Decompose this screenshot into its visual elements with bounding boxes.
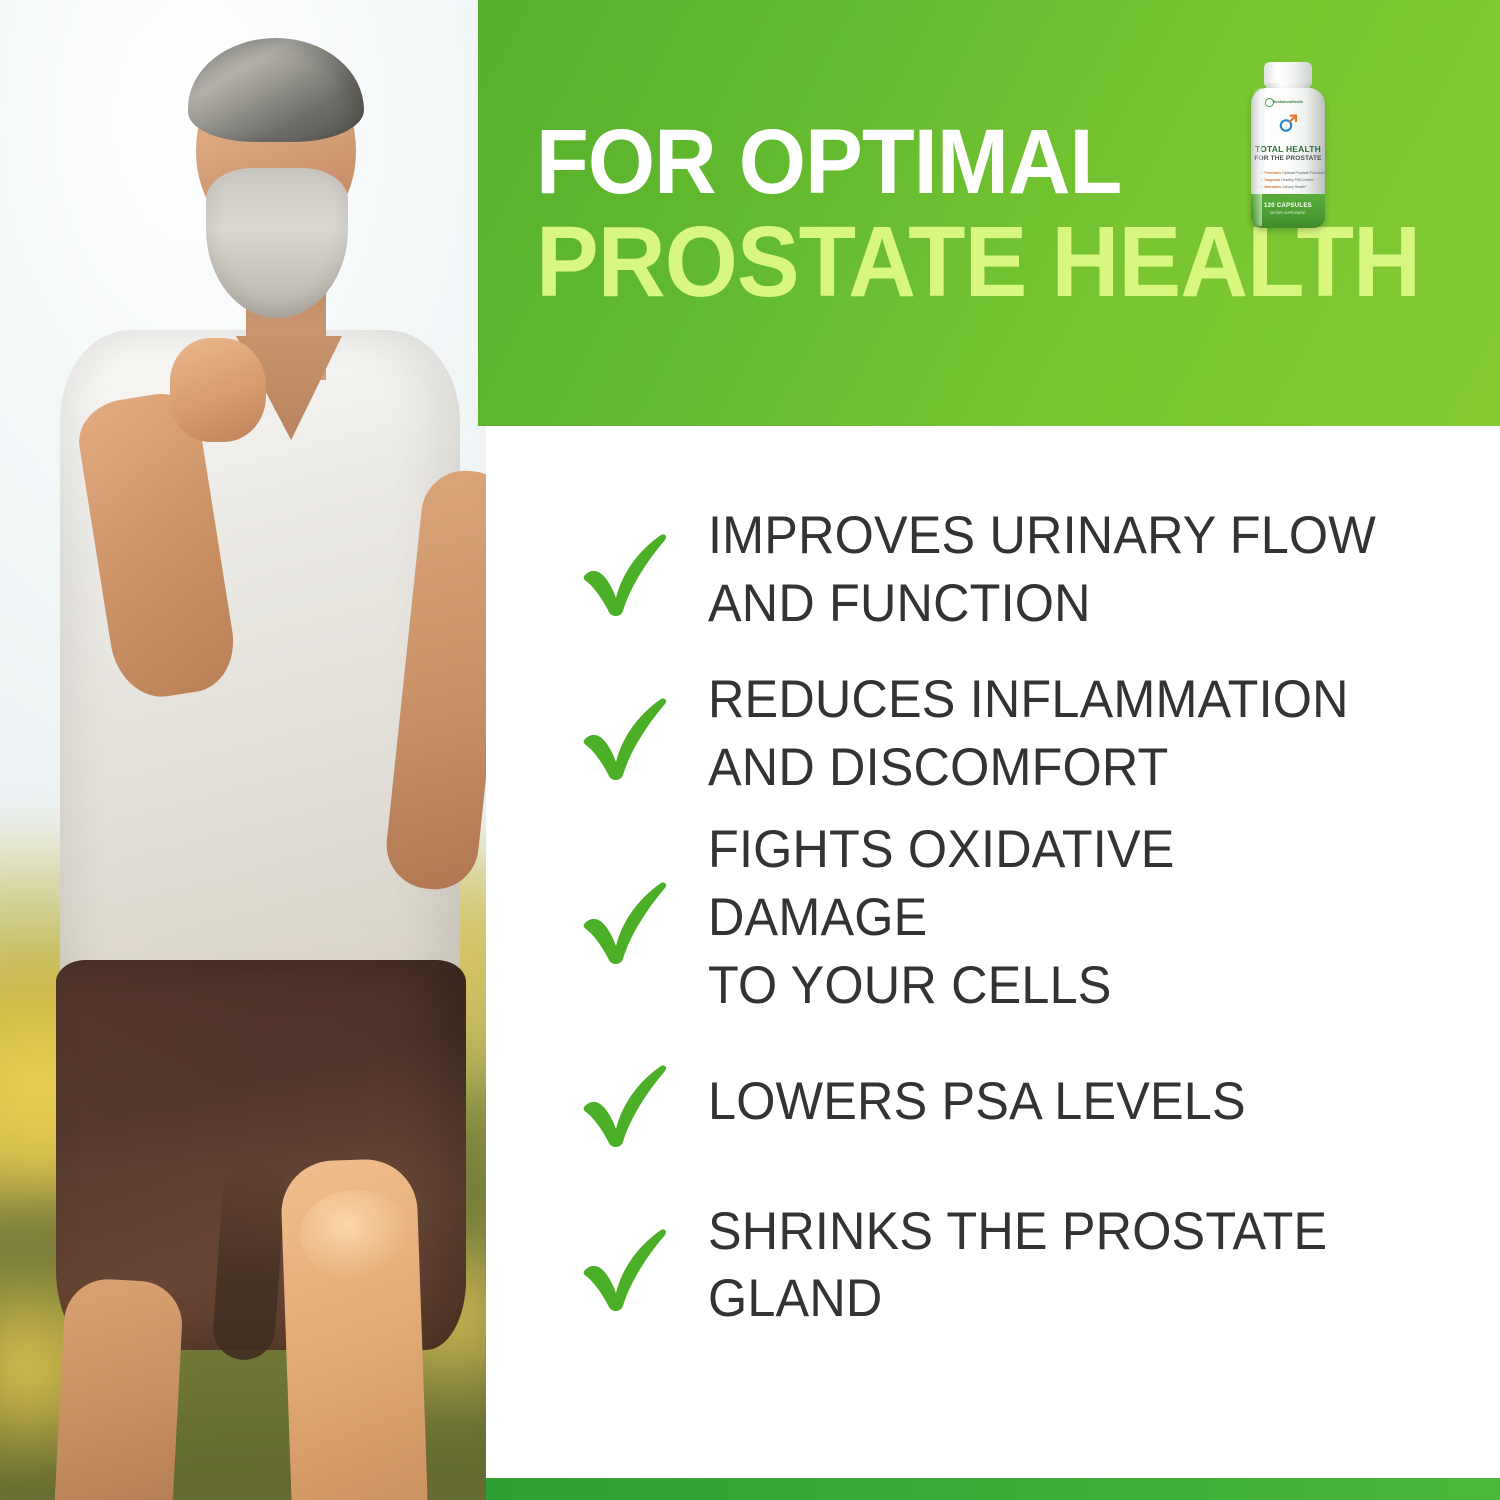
check-mark-icon: ✓	[1260, 185, 1263, 189]
bottle-subtitle: FOR THE PROSTATE	[1251, 155, 1325, 162]
bottle-supplement-label: DIETARY SUPPLEMENT	[1251, 211, 1325, 215]
bottle-claim: ✓Promotes Optimal Prostate Function*	[1260, 170, 1318, 177]
benefits-list: IMPROVES URINARY FLOW AND FUNCTION REDUC…	[578, 488, 1438, 1347]
benefit-item: FIGHTS OXIDATIVE DAMAGE TO YOUR CELLS	[578, 816, 1438, 1019]
bottle-brand-name: BenNaturalHealth	[1251, 100, 1325, 104]
benefit-item: LOWERS PSA LEVELS	[578, 1019, 1438, 1183]
check-mark-icon	[578, 1217, 674, 1313]
bottle-claims-list: ✓Promotes Optimal Prostate Function* ✓Su…	[1260, 170, 1318, 190]
bottom-accent-bar	[486, 1478, 1500, 1500]
benefit-item: REDUCES INFLAMMATION AND DISCOMFORT	[578, 652, 1438, 816]
male-gender-symbol-icon	[1277, 112, 1299, 139]
bottle-label: BenNaturalHealth TOTAL HEALTH FOR THE PR…	[1251, 88, 1325, 228]
bottle-claim-lead: Promotes	[1265, 171, 1282, 175]
check-mark-icon: ✓	[1260, 178, 1263, 182]
runner-left-leg	[54, 1277, 184, 1500]
runner-knee-highlight	[300, 1190, 410, 1280]
bottle-title: TOTAL HEALTH	[1251, 144, 1325, 154]
benefit-label: LOWERS PSA LEVELS	[708, 1068, 1246, 1136]
benefit-label: FIGHTS OXIDATIVE DAMAGE TO YOUR CELLS	[708, 816, 1402, 1019]
benefit-label: REDUCES INFLAMMATION AND DISCOMFORT	[708, 666, 1349, 802]
check-mark-icon: ✓	[1260, 171, 1263, 175]
bottle-claim-rest: Healthy PSA Levels*	[1281, 178, 1314, 182]
runner-beard	[206, 168, 348, 318]
bottle-claim: ✓Maintains Urinary Health*	[1260, 184, 1318, 191]
runner-hair	[188, 38, 364, 142]
benefit-label: SHRINKS THE PROSTATE GLAND	[708, 1198, 1327, 1334]
benefit-item: IMPROVES URINARY FLOW AND FUNCTION	[578, 488, 1438, 652]
bottle-capsule-count: 120 CAPSULES	[1251, 203, 1325, 209]
benefit-label: IMPROVES URINARY FLOW AND FUNCTION	[708, 502, 1376, 638]
check-mark-icon	[578, 870, 674, 966]
check-mark-icon	[578, 686, 674, 782]
bottle-claim-lead: Maintains	[1265, 185, 1282, 189]
bottle-claim-rest: Urinary Health*	[1282, 185, 1306, 189]
bottle-claim: ✓Supports Healthy PSA Levels*	[1260, 177, 1318, 184]
bottle-claim-rest: Optimal Prostate Function*	[1282, 171, 1325, 175]
runner-figure	[0, 0, 486, 1500]
check-mark-icon	[578, 522, 674, 618]
bottle-footer-band: 120 CAPSULES DIETARY SUPPLEMENT	[1251, 194, 1325, 228]
check-mark-icon	[578, 1053, 674, 1149]
bottle-claim-lead: Supports	[1265, 178, 1281, 182]
runner-fist	[170, 338, 266, 442]
lifestyle-photo	[0, 0, 486, 1500]
header-green-panel: FOR OPTIMAL PROSTATE HEALTH	[478, 0, 1500, 426]
benefit-item: SHRINKS THE PROSTATE GLAND	[578, 1183, 1438, 1347]
product-bottle-image: BenNaturalHealth TOTAL HEALTH FOR THE PR…	[1246, 62, 1330, 230]
product-benefits-infographic: FOR OPTIMAL PROSTATE HEALTH BenNaturalHe…	[0, 0, 1500, 1500]
